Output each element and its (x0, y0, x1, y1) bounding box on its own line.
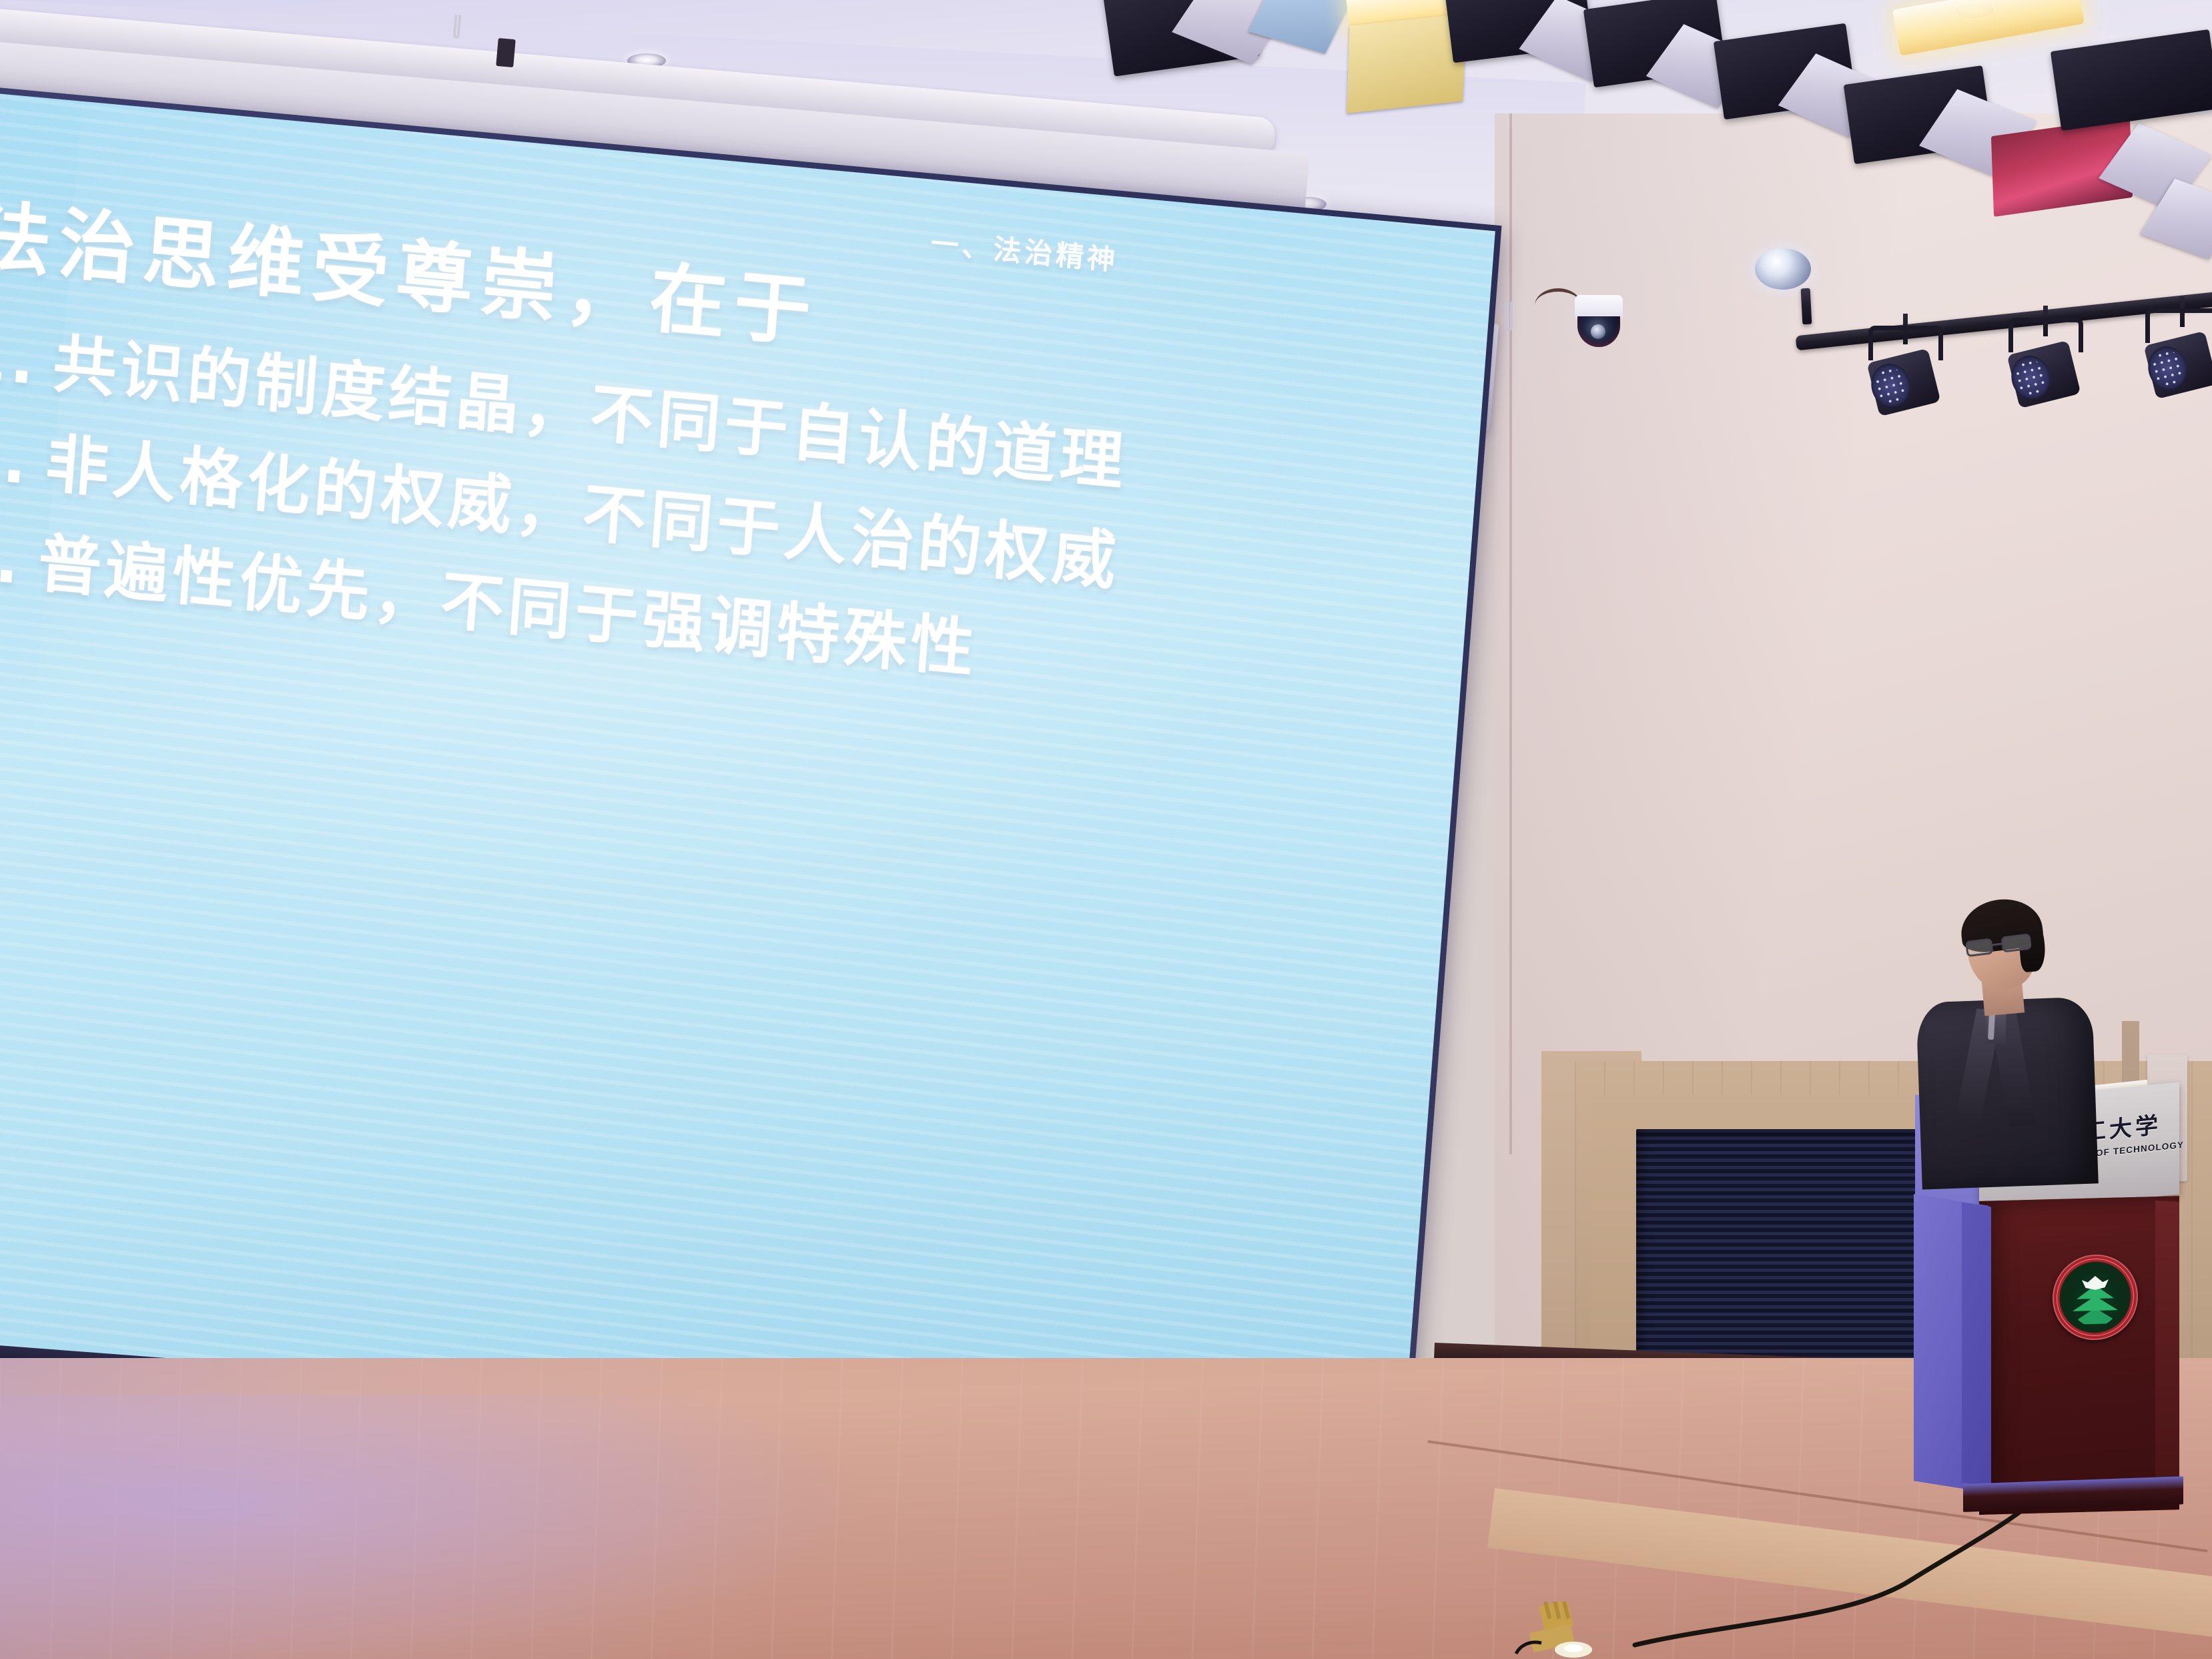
led-array-icon (1872, 364, 1910, 407)
led-array-icon (2149, 347, 2187, 390)
lamp-glow (1892, 0, 2085, 56)
camera-mount (1575, 295, 1623, 319)
podium-left-column-inner (1962, 1203, 1991, 1487)
camera-lens-icon (1591, 324, 1605, 339)
podium-right-side (2155, 1201, 2179, 1496)
glasses-lens-left (1965, 938, 1994, 958)
par-can-light (2008, 318, 2083, 404)
ceiling-hook-icon (1505, 302, 1513, 331)
barn-door-gold (1347, 13, 1466, 113)
list-item-number: 2. (0, 420, 33, 499)
floor-uplight-fixture (1515, 1602, 1608, 1659)
truss-upright (1801, 288, 1812, 325)
par-lens (2006, 352, 2055, 404)
spotlight-lens-icon (1755, 248, 1811, 290)
par-lens (2143, 342, 2191, 394)
emblem-core (2069, 1267, 2121, 1327)
security-camera-icon (1575, 295, 1623, 351)
floor-light-pool (0, 1395, 881, 1659)
speaker-person (1882, 901, 2102, 1181)
led-array-icon (2012, 356, 2051, 399)
stage-light-fixture (2051, 29, 2212, 131)
list-item-number: 3. (0, 521, 26, 599)
par-lens (1866, 360, 1914, 412)
par-can-light (2145, 308, 2212, 395)
stage-lighting-rig (0, 0, 2212, 414)
lecture-hall-photo: 一、法治精神 法治思维受尊崇，在于 1. 共识的制度结晶，不同于自认的道理 2.… (0, 0, 2212, 1659)
par-can-light (1868, 326, 1943, 412)
podium-front-panel (1979, 1196, 2179, 1515)
